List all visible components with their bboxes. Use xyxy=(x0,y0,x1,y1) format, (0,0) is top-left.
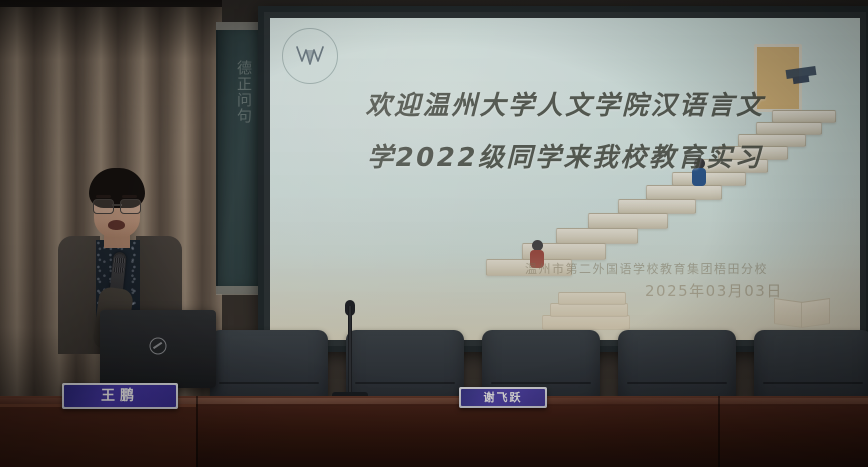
book-stack-item xyxy=(542,315,630,330)
dell-logo-icon xyxy=(150,337,167,354)
slide-organization: 温州市第二外国语学校教育集团梧田分校 xyxy=(525,260,855,277)
book-step xyxy=(556,228,638,244)
nameplate-secondary-text: 谢飞跃 xyxy=(461,389,545,406)
chalkboard-bottom-rail xyxy=(216,286,262,295)
chalkboard-writing: 德正问句 xyxy=(220,60,258,270)
projection-screen-surface: 欢迎温州大学人文学院汉语言文 学2022级同学来我校教育实习 温州市第二外国语学… xyxy=(270,18,860,340)
book-step xyxy=(646,185,722,200)
curtain-top-shadow xyxy=(0,0,222,60)
slide-title-line-2: 学2022级同学来我校教育实习 xyxy=(270,132,860,184)
nameplate-primary: 王鹏 xyxy=(62,383,178,409)
table-seam xyxy=(718,396,720,467)
nameplate-primary-text: 王鹏 xyxy=(64,385,176,407)
presenter-eyebrow-right xyxy=(122,195,137,198)
nameplate-secondary: 谢飞跃 xyxy=(459,387,547,408)
presenter-eyebrow-left xyxy=(96,195,111,198)
table-microphone-stand xyxy=(348,306,352,398)
open-book-illustration xyxy=(774,300,830,326)
presenter-mouth xyxy=(108,220,125,230)
desktop-monitor[interactable] xyxy=(100,310,216,388)
lecture-hall-scene: 德正问句 xyxy=(0,0,868,467)
book-step xyxy=(618,199,696,214)
slide-title-line-1: 欢迎温州大学人文学院汉语言文 xyxy=(270,80,860,132)
book-stack-item xyxy=(558,292,626,305)
table-seam xyxy=(196,396,198,467)
book-step xyxy=(522,243,606,260)
eyeglasses-icon xyxy=(92,199,142,212)
graduation-cap-icon xyxy=(786,66,817,79)
book-stack-item xyxy=(550,303,628,317)
chalkboard-top-rail xyxy=(216,22,262,30)
wenzhou-university-crane-emblem-icon xyxy=(282,28,338,84)
lectern xyxy=(0,404,196,467)
book-step xyxy=(588,213,668,229)
slide-date: 2025年03月03日 xyxy=(645,280,860,301)
